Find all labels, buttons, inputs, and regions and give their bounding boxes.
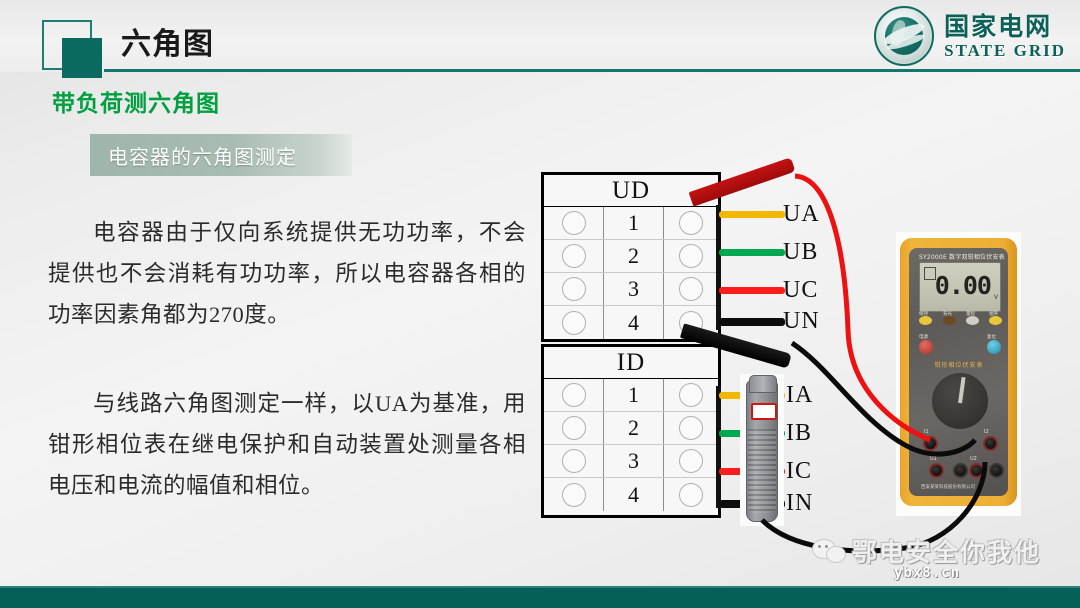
terminal-block-id-header: ID [544, 347, 718, 379]
meter-button-phase-seq-label: 相序 [989, 311, 998, 317]
terminal-hole-right[interactable] [664, 273, 718, 305]
terminal-hole-left[interactable] [544, 273, 604, 305]
meter-button-reset-label: 复位 [987, 334, 996, 340]
meter-front-panel: SY2000E 数字双钳相位伏安表 0.00 V 保持 背光 量程 相序 电源 … [909, 248, 1008, 496]
wire-label-uc: UC [783, 277, 818, 304]
terminal-hole-right[interactable] [664, 379, 718, 411]
terminal-row-number: 4 [604, 478, 664, 511]
meter-outer-case: SY2000E 数字双钳相位伏安表 0.00 V 保持 背光 量程 相序 电源 … [900, 238, 1017, 506]
slide-canvas: 六角图 国家电网 STATE GRID 带负荷测六角图 电容器的六角图测定 电容… [0, 0, 1080, 608]
terminal-row-number: 3 [604, 445, 664, 477]
meter-jack-u2-label: U2 [970, 456, 977, 462]
table-row: 2 [544, 240, 718, 273]
meter-button-reset[interactable] [987, 340, 1001, 354]
table-row: 2 [544, 412, 718, 445]
meter-jack-u1[interactable] [929, 463, 944, 478]
meter-jack-u1-label: U1 [930, 456, 937, 462]
meter-jack-common-1[interactable] [953, 463, 968, 478]
terminal-hole-right[interactable] [664, 478, 718, 511]
meter-dial-caption: 钳形相位伏安表 [921, 360, 997, 369]
meter-brand-text: SY2000E 数字双钳相位伏安表 [919, 252, 1003, 261]
wire-label-in: IN [786, 490, 813, 517]
meter-button-phase-seq[interactable] [989, 316, 1002, 325]
wire-ub [719, 249, 785, 256]
wechat-icon [812, 539, 846, 563]
terminal-hole-left[interactable] [544, 478, 604, 511]
meter-jack-i2-label: I2 [984, 429, 989, 435]
clamp-meter-label [751, 403, 777, 420]
table-row: 1 [544, 207, 718, 240]
header-divider-rule [104, 69, 1080, 72]
meter-button-backlight[interactable] [943, 316, 956, 325]
terminal-row-number: 1 [604, 379, 664, 411]
meter-jack-i1[interactable] [923, 436, 938, 451]
terminal-hole-right[interactable] [664, 240, 718, 272]
terminal-hole-left[interactable] [544, 306, 604, 339]
table-row: 4 [544, 478, 718, 511]
wire-un [719, 318, 785, 326]
logo-text-en: STATE GRID [944, 42, 1066, 59]
wire-label-ic: IC [786, 458, 812, 485]
topic-banner-label: 电容器的六角图测定 [108, 141, 297, 170]
wire-uc [719, 287, 785, 294]
table-row: 1 [544, 379, 718, 412]
meter-button-hold[interactable] [919, 316, 932, 325]
terminal-block-id: ID 1 2 3 4 [541, 344, 721, 518]
meter-lcd-value: 0.00 [935, 271, 991, 300]
topic-banner: 电容器的六角图测定 [90, 134, 352, 176]
wire-label-un: UN [783, 308, 820, 335]
state-grid-logo: 国家电网 STATE GRID [874, 6, 1066, 66]
logo-text: 国家电网 STATE GRID [944, 14, 1066, 59]
meter-lcd-display: 0.00 V [919, 262, 1001, 312]
meter-jack-common-2[interactable] [989, 463, 1004, 478]
meter-button-power[interactable] [919, 340, 933, 354]
terminal-hole-left[interactable] [544, 240, 604, 272]
table-row: 3 [544, 273, 718, 306]
body-paragraph-2: 与线路六角图测定一样，以UA为基准，用钳形相位表在继电保护和自动装置处测量各相电… [48, 383, 526, 506]
terminal-row-number: 3 [604, 273, 664, 305]
bus-bar-id [716, 386, 721, 508]
state-grid-emblem-icon [874, 6, 934, 66]
meter-footer-text: 西安某某科技股份有限公司 [921, 484, 997, 490]
meter-button-backlight-label: 背光 [943, 311, 952, 317]
meter-button-range[interactable] [966, 316, 979, 325]
terminal-hole-right[interactable] [664, 207, 718, 239]
terminal-row-number: 1 [604, 207, 664, 239]
terminal-hole-left[interactable] [544, 412, 604, 444]
meter-lcd-unit: V [994, 294, 998, 301]
logo-text-cn: 国家电网 [944, 14, 1066, 39]
bus-bar-ud [716, 205, 721, 330]
meter-jack-i2[interactable] [983, 436, 998, 451]
body-paragraph-1: 电容器由于仅向系统提供无功功率，不会提供也不会消耗有功功率，所以电容器各相的功率… [48, 212, 526, 335]
terminal-hole-left[interactable] [544, 379, 604, 411]
clamp-meter-grip [748, 429, 776, 513]
wire-label-ib: IB [786, 420, 812, 447]
phase-volt-ampere-meter: SY2000E 数字双钳相位伏安表 0.00 V 保持 背光 量程 相序 电源 … [896, 232, 1021, 516]
terminal-row-number: 2 [604, 240, 664, 272]
terminal-hole-right[interactable] [664, 412, 718, 444]
watermark: 鄂电安全你我他 [812, 533, 1041, 569]
terminal-hole-right[interactable] [664, 445, 718, 477]
terminal-hole-left[interactable] [544, 207, 604, 239]
wire-label-ia: IA [786, 382, 813, 409]
section-subtitle: 带负荷测六角图 [52, 84, 220, 118]
terminal-row-number: 4 [604, 306, 664, 339]
meter-jack-i1-label: I1 [924, 429, 929, 435]
decorative-square-filled-icon [62, 38, 102, 78]
meter-jack-u2[interactable] [969, 463, 984, 478]
meter-button-range-label: 量程 [966, 311, 975, 317]
page-title: 六角图 [121, 19, 214, 63]
clamp-meter-jaw [749, 375, 777, 393]
wire-label-ub: UB [783, 239, 818, 266]
meter-rotary-dial[interactable] [931, 372, 989, 430]
terminal-hole-left[interactable] [544, 445, 604, 477]
clamp-meter [746, 380, 778, 522]
terminal-row-number: 2 [604, 412, 664, 444]
watermark-text: 鄂电安全你我他 [852, 533, 1041, 569]
watermark-url: ybx8.cn [894, 565, 960, 581]
table-row: 3 [544, 445, 718, 478]
wire-ua [719, 211, 785, 218]
wire-label-ua: UA [783, 201, 820, 228]
meter-button-power-label: 电源 [919, 334, 928, 340]
meter-button-hold-label: 保持 [919, 311, 928, 317]
footer-bar [0, 588, 1080, 608]
